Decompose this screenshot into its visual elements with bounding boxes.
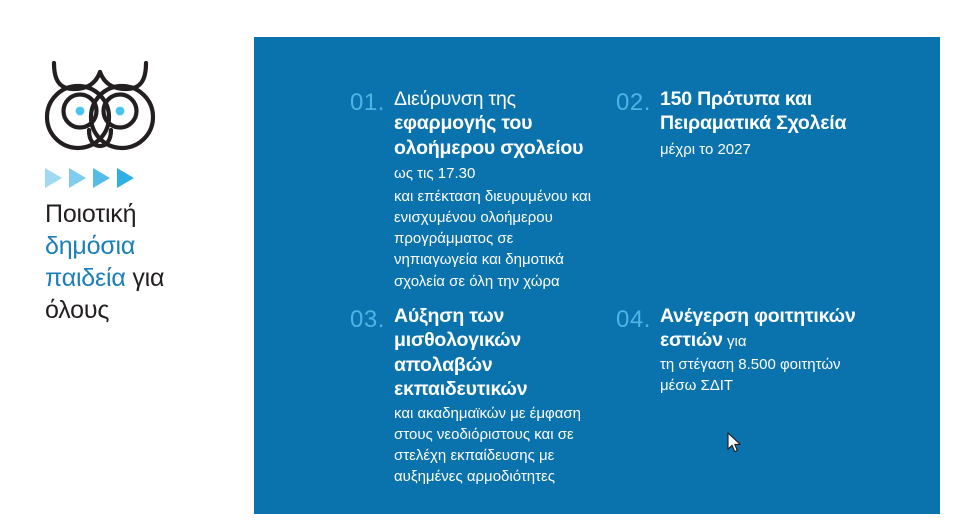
item-text: 150 Πρότυπα και Πειραματικά Σχολεία μέχρ… — [660, 87, 866, 161]
tagline-line-4: όλους — [45, 296, 109, 324]
list-item: 03. Αύξηση των μισθολογικών απολαβών εκπ… — [350, 304, 600, 488]
brand-panel: Ποιοτική δημόσια παιδεία για όλους — [0, 0, 254, 527]
item-bold: εφαρμογής του ολοήμερου σχολείου — [394, 112, 583, 158]
item-bold: 150 Πρότυπα και Πειραματικά Σχολεία — [660, 88, 846, 134]
item-subtext: τη στέγαση 8.500 φοιτητών μέσω ΣΔΙΤ — [660, 354, 866, 397]
brand-tagline: Ποιοτική δημόσια παιδεία για όλους — [45, 198, 225, 326]
item-tail: ως τις 17.30 — [394, 165, 475, 182]
item-number: 01. — [350, 87, 394, 118]
play-triangle-icon-3 — [93, 168, 110, 188]
tagline-line-1: Ποιοτική — [45, 200, 136, 228]
list-item: 02. 150 Πρότυπα και Πειραματικά Σχολεία … — [616, 87, 866, 161]
play-triangle-icon-1 — [45, 168, 62, 188]
tagline-line-3-blue: παιδεία — [45, 264, 126, 292]
list-item: 04. Ανέγερση φοιτητικών εστιών για τη στ… — [616, 304, 866, 396]
item-tail: μέχρι το 2027 — [660, 141, 751, 158]
play-triangle-icon-2 — [69, 168, 86, 188]
item-number: 02. — [616, 87, 660, 118]
content-panel: 01. Διεύρυνση της εφαρμογής του ολοήμερο… — [254, 37, 940, 514]
item-text: Διεύρυνση της εφαρμογής του ολοήμερου σχ… — [394, 87, 600, 292]
play-triangle-icon-4 — [117, 168, 134, 188]
item-number: 04. — [616, 304, 660, 335]
item-tail: για — [723, 333, 747, 350]
tagline-line-2: δημόσια — [45, 232, 135, 260]
item-bold: Αύξηση των μισθολογικών απολαβών εκπαιδε… — [394, 305, 527, 400]
list-item: 01. Διεύρυνση της εφαρμογής του ολοήμερο… — [350, 87, 600, 292]
item-number: 03. — [350, 304, 394, 335]
item-lead: Διεύρυνση της — [394, 88, 516, 110]
item-text: Αύξηση των μισθολογικών απολαβών εκπαιδε… — [394, 304, 600, 488]
item-bold: Ανέγερση φοιτητικών εστιών — [660, 305, 856, 351]
item-subtext: και ακαδημαϊκών με έμφαση στους νεοδιόρι… — [394, 403, 600, 488]
item-text: Ανέγερση φοιτητικών εστιών για τη στέγασ… — [660, 304, 866, 396]
owl-icon — [44, 55, 156, 159]
tagline-line-3-dark: για — [126, 264, 165, 292]
item-subtext: και επέκταση διευρυμένου και ενισχυμένου… — [394, 186, 600, 292]
play-triangle-icon-row — [45, 166, 155, 190]
